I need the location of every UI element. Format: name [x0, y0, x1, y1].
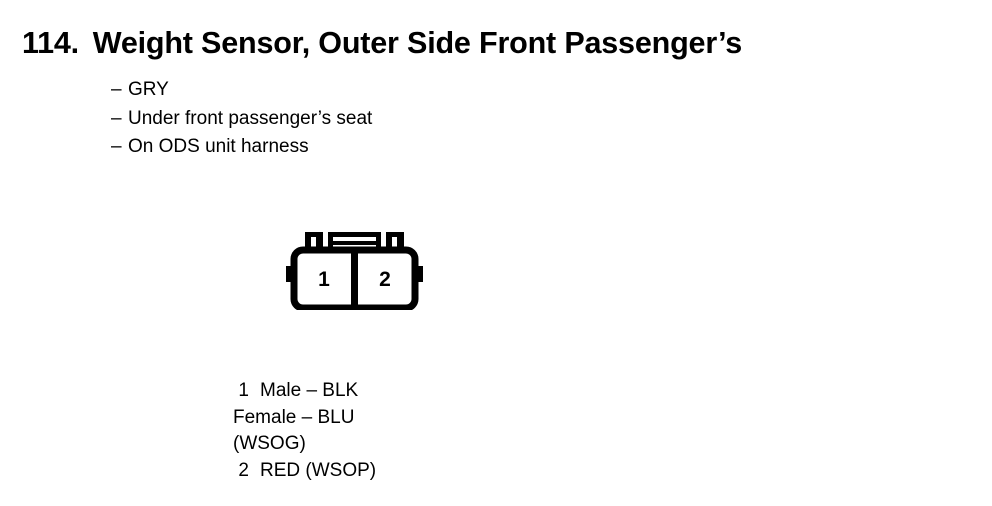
page-title-number: 114.: [22, 25, 79, 60]
legend-pin-text: Male – BLK: [260, 380, 358, 401]
legend-pin-text: (WSOG): [233, 433, 306, 454]
dash-icon: –: [111, 76, 128, 105]
legend-pin-number: 2: [233, 458, 249, 485]
list-item: –GRY: [111, 76, 372, 105]
dash-icon: –: [111, 133, 128, 162]
legend-pin-text: Female – BLU: [233, 407, 354, 428]
connector-body: [294, 250, 415, 308]
legend-item: 2 RED (WSOP): [233, 458, 376, 485]
list-item: –Under front passenger’s seat: [111, 105, 372, 134]
description-list: –GRY –Under front passenger’s seat –On O…: [111, 76, 372, 162]
list-item-label: Under front passenger’s seat: [128, 108, 372, 129]
list-item-label: On ODS unit harness: [128, 136, 309, 157]
dash-icon: –: [111, 105, 128, 134]
connector-cavity-label-1: 1: [318, 268, 330, 291]
list-item: –On ODS unit harness: [111, 133, 372, 162]
legend-pin-text: RED (WSOP): [260, 460, 376, 481]
connector-cavity-label-2: 2: [379, 268, 391, 291]
legend-item: 1 Male – BLK Female – BLU (WSOG): [233, 378, 376, 458]
pin-legend: 1 Male – BLK Female – BLU (WSOG) 2 RED (…: [233, 378, 376, 484]
page-title: 114.Weight Sensor, Outer Side Front Pass…: [22, 25, 958, 61]
page-title-text: Weight Sensor, Outer Side Front Passenge…: [93, 25, 742, 60]
list-item-label: GRY: [128, 79, 169, 100]
connector-diagram: 1 2: [283, 228, 433, 310]
legend-pin-number: 1: [233, 378, 249, 405]
